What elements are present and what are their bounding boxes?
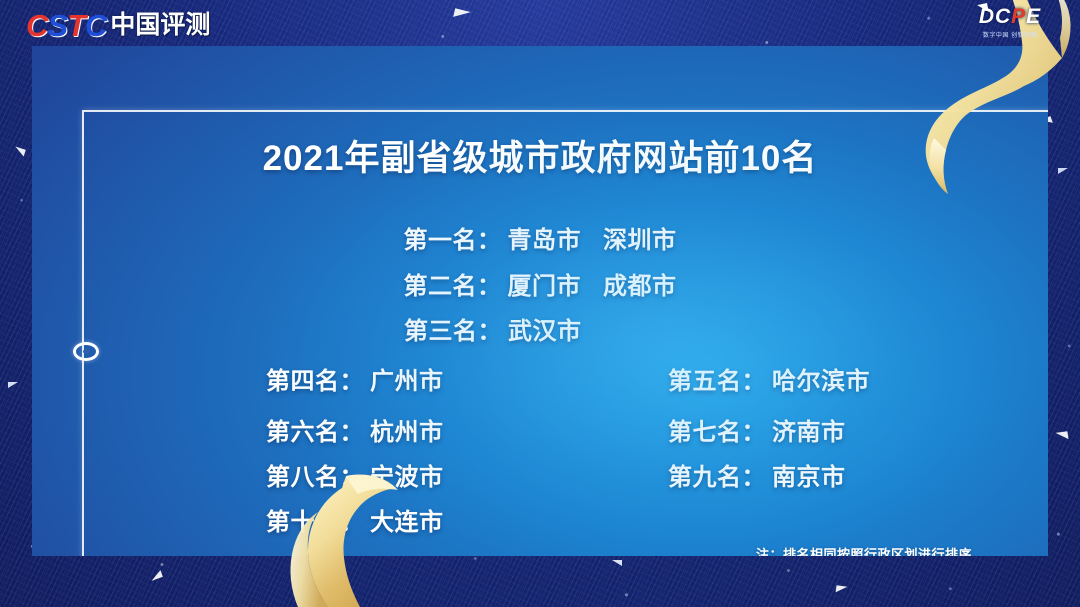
city-name: 杭州市 <box>370 419 444 446</box>
confetti-triangle <box>8 382 18 388</box>
rank-row-4: 第四名：广州市 <box>266 361 444 396</box>
cstc-letter: S <box>47 8 67 43</box>
confetti-triangle <box>836 585 848 593</box>
cstc-letter: C <box>85 8 106 43</box>
page-title: 2021年副省级城市政府网站前10名 <box>32 130 1048 181</box>
dcpe-letter: P <box>1011 5 1026 28</box>
city-name: 南京市 <box>772 464 846 491</box>
poster-canvas: 2021年副省级城市政府网站前10名 第一名：青岛市深圳市 第二名：厦门市成都市… <box>0 0 1080 607</box>
city-name: 济南市 <box>772 419 846 446</box>
cstc-chinese-name: 中国评测 <box>110 13 210 38</box>
cstc-logo: CSTC 中国评测 <box>26 8 210 42</box>
rank-label: 第四名： <box>266 368 364 395</box>
city-name: 大连市 <box>370 509 444 536</box>
rank-row-10: 第十名：大连市 <box>266 502 444 537</box>
dcpe-logo: DCPE 数字中国 创新中国 <box>972 6 1048 52</box>
dcpe-subtitle: 数字中国 创新中国 <box>972 30 1048 39</box>
confetti-triangle <box>612 560 622 566</box>
city-name: 深圳市 <box>603 227 677 254</box>
panel-inner-frame <box>82 110 1048 556</box>
city-name: 厦门市 <box>508 273 582 300</box>
confetti-triangle <box>1056 431 1069 441</box>
city-name: 广州市 <box>370 368 444 395</box>
rank-row-1: 第一名：青岛市深圳市 <box>32 220 1048 255</box>
cstc-letter: T <box>67 8 85 43</box>
rank-row-7: 第七名：济南市 <box>668 412 846 447</box>
city-name: 青岛市 <box>508 227 582 254</box>
rank-label: 第九名： <box>668 464 766 491</box>
footnote: 注：排名相同按照行政区划进行排序 <box>756 544 972 556</box>
rank-label: 第一名： <box>404 227 502 254</box>
rank-row-2: 第二名：厦门市成都市 <box>32 266 1048 301</box>
city-name: 武汉市 <box>508 318 582 345</box>
rank-row-6: 第六名：杭州市 <box>266 412 444 447</box>
rank-label: 第七名： <box>668 419 766 446</box>
cstc-mark: CSTC <box>26 10 106 41</box>
panel-content: 2021年副省级城市政府网站前10名 第一名：青岛市深圳市 第二名：厦门市成都市… <box>32 46 1048 556</box>
main-panel: 2021年副省级城市政府网站前10名 第一名：青岛市深圳市 第二名：厦门市成都市… <box>32 46 1048 556</box>
dcpe-letter: C <box>995 5 1011 28</box>
city-name: 哈尔滨市 <box>772 368 870 395</box>
rank-label: 第六名： <box>266 419 364 446</box>
rank-label: 第二名： <box>404 273 502 300</box>
dcpe-letter: E <box>1026 5 1041 28</box>
rank-label: 第十名： <box>266 509 364 536</box>
rank-row-8: 第八名：宁波市 <box>266 457 444 492</box>
cstc-letter: C <box>26 8 47 43</box>
rank-label: 第三名： <box>404 318 502 345</box>
city-name: 成都市 <box>603 273 677 300</box>
rank-row-5: 第五名：哈尔滨市 <box>668 361 870 396</box>
frame-ring-left-icon <box>73 342 99 361</box>
rank-label: 第五名： <box>668 368 766 395</box>
city-name: 宁波市 <box>370 464 444 491</box>
rank-label: 第八名： <box>266 464 364 491</box>
rank-row-9: 第九名：南京市 <box>668 457 846 492</box>
rank-row-3: 第三名：武汉市 <box>32 311 1048 346</box>
confetti-triangle <box>1058 168 1068 174</box>
